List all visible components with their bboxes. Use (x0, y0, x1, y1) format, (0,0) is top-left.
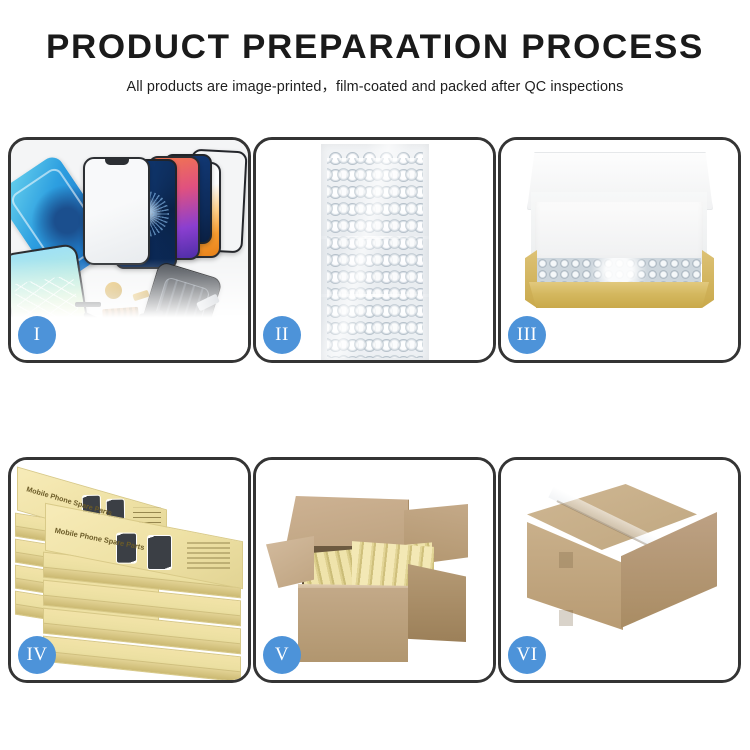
mailer-box-bubble-contents (537, 258, 701, 286)
step-badge-3: III (508, 316, 546, 354)
process-step-panel-1: I (8, 137, 251, 363)
process-step-panel-5: V (253, 457, 496, 683)
page-title: PRODUCT PREPARATION PROCESS (0, 30, 750, 66)
step-badge-2: II (263, 316, 301, 354)
carton-front-face (298, 588, 408, 662)
step-badge-6: VI (508, 636, 546, 674)
carton-right-face (408, 564, 466, 642)
bubble-wrap-pouch (321, 144, 429, 360)
step-badge-5: V (263, 636, 301, 674)
process-step-grid: I II III (8, 137, 742, 683)
process-step-panel-3: III (498, 137, 741, 363)
carton-hand-hole-lower (559, 610, 573, 626)
page-header: PRODUCT PREPARATION PROCESS All products… (0, 0, 750, 96)
carton-hand-hole-upper (559, 552, 573, 568)
bubble-wrap-highlight (321, 144, 429, 360)
lid-product-photo-b2 (148, 536, 171, 569)
page-subtitle: All products are image-printed，film-coat… (0, 75, 750, 96)
screen-protector-glass (83, 157, 150, 265)
mailer-box-foam-liner (535, 202, 703, 264)
carton-side-flap-left (266, 536, 314, 588)
process-step-panel-2: II (253, 137, 496, 363)
mailer-box-front-panel (529, 282, 709, 308)
step-badge-4: IV (18, 636, 56, 674)
step-badge-1: I (18, 316, 56, 354)
process-step-panel-4: Mobile Phone Spare Parts Mobile Phone Sp… (8, 457, 251, 683)
process-step-panel-6: VI (498, 457, 741, 683)
lid-spec-lines-b (187, 541, 230, 568)
